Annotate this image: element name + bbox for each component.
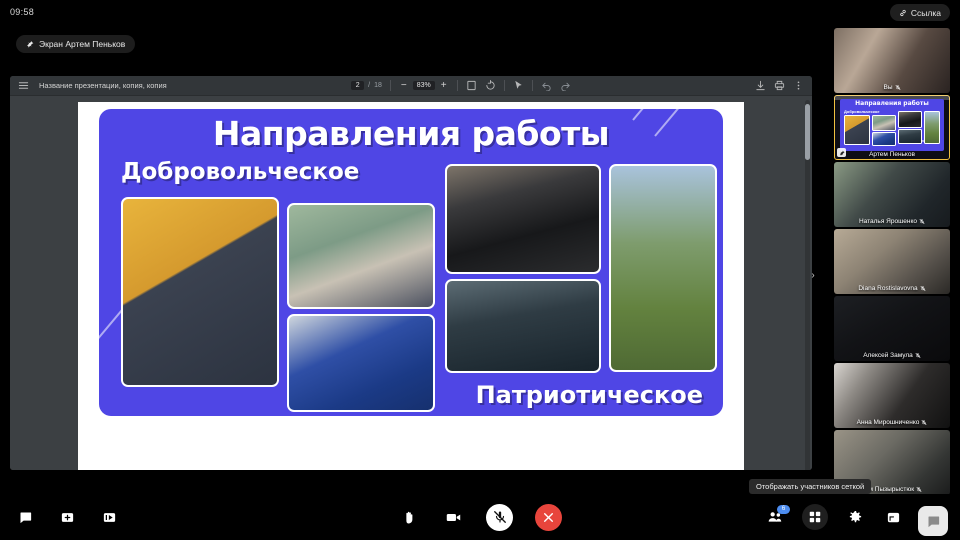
camera-icon xyxy=(445,509,462,526)
add-participant-icon xyxy=(60,510,75,525)
link-icon xyxy=(899,9,907,17)
participant-name-row: Наталья Ярошенко xyxy=(834,218,950,225)
chevron-right-icon[interactable]: › xyxy=(808,262,818,288)
viewer-scrollbar-thumb[interactable] xyxy=(805,104,810,160)
chat-floating-button[interactable] xyxy=(918,506,948,536)
grid-view-tooltip: Отображать участников сеткой xyxy=(749,479,871,494)
slide-page: Направления работы Добровольческое Патри… xyxy=(78,102,744,470)
slide-subtitle-volunteer: Добровольческое xyxy=(121,159,359,185)
microphone-muted-icon xyxy=(920,285,926,292)
bottom-left-controls xyxy=(14,506,120,528)
chat-bubble-icon xyxy=(926,514,941,529)
link-button-label: Ссылка xyxy=(911,8,941,18)
mini-slide-title: Направления работы xyxy=(840,100,944,107)
participant-name: Анна Мирошниченко xyxy=(857,419,920,426)
microphone-muted-icon xyxy=(916,486,922,493)
slide-title: Направления работы xyxy=(99,114,723,153)
participant-name-row: Вы xyxy=(834,84,950,91)
photo-computer-class xyxy=(445,164,601,274)
document-viewer-toolbar: Название презентации, копия, копия 2 / 1… xyxy=(10,76,812,96)
clock: 09:58 xyxy=(10,7,34,17)
participant-tile-active-screenshare[interactable]: Направления работы Добровольческое Патри… xyxy=(834,95,950,160)
pinned-screen-label: Экран Артем Пеньков xyxy=(39,39,125,49)
share-stage: Название презентации, копия, копия 2 / 1… xyxy=(0,26,822,494)
print-icon[interactable] xyxy=(774,80,785,91)
current-page-input[interactable]: 2 xyxy=(351,81,364,90)
participant-tile[interactable]: Diana Rostislavovna xyxy=(834,229,950,294)
page-indicator: 2 / 18 xyxy=(351,81,382,90)
bottom-right-controls: 6 xyxy=(764,504,942,530)
raise-hand-icon xyxy=(402,510,417,525)
participant-name: Наталья Ярошенко xyxy=(859,218,917,225)
document-title: Название презентации, копия, копия xyxy=(39,81,167,90)
microphone-muted-icon xyxy=(919,218,925,225)
participant-name: Артем Пеньков xyxy=(869,151,915,158)
participant-tile[interactable]: Вы xyxy=(834,28,950,93)
mini-slide-preview: Направления работы Добровольческое Патри… xyxy=(840,99,944,151)
mini-slide-subtitle-volunteer: Добровольческое xyxy=(844,109,879,114)
end-call-button[interactable] xyxy=(535,504,562,531)
zoom-controls: − 83% + xyxy=(399,81,449,91)
top-bar: 09:58 Ссылка xyxy=(0,0,960,26)
photo-blue-vest-volunteer xyxy=(287,314,435,412)
end-call-icon xyxy=(542,511,555,524)
share-screen-icon xyxy=(886,510,901,525)
total-pages: 18 xyxy=(374,82,382,89)
chat-button[interactable] xyxy=(14,506,36,528)
link-button[interactable]: Ссылка xyxy=(890,4,950,21)
download-icon[interactable] xyxy=(755,80,766,91)
settings-button[interactable] xyxy=(844,506,866,528)
photo-memorial-hill xyxy=(609,164,717,372)
document-canvas[interactable]: Направления работы Добровольческое Патри… xyxy=(10,96,812,470)
bottom-center-controls xyxy=(398,504,562,531)
participant-name: Алексей Замула xyxy=(863,352,913,359)
participant-tile[interactable]: Анна Мирошниченко xyxy=(834,363,950,428)
rotate-icon[interactable] xyxy=(485,80,496,91)
toolbar-divider xyxy=(457,80,458,91)
participant-name: Вы xyxy=(883,84,892,91)
share-screen-button[interactable] xyxy=(882,506,904,528)
shared-document-frame: Название презентации, копия, копия 2 / 1… xyxy=(10,76,812,470)
microphone-muted-icon xyxy=(921,419,927,426)
participants-button[interactable]: 6 xyxy=(764,506,786,528)
more-options-icon[interactable] xyxy=(793,80,804,91)
participant-name: Diana Rostislavovna xyxy=(858,285,917,292)
participants-filmstrip[interactable]: Вы Направления работы Добровольческое Па… xyxy=(822,26,960,494)
microphone-muted-icon xyxy=(895,84,901,91)
presentation-icon xyxy=(102,510,117,525)
participant-tile[interactable]: Алексей Замула xyxy=(834,296,950,361)
toolbar-divider xyxy=(390,80,391,91)
zoom-out-button[interactable]: − xyxy=(399,81,409,91)
grid-view-icon xyxy=(808,510,822,524)
toolbar-divider xyxy=(532,80,533,91)
page-separator: / xyxy=(368,82,370,89)
participant-name-row: Анна Мирошниченко xyxy=(834,419,950,426)
photo-volunteer-elderly xyxy=(121,197,279,387)
microphone-muted-icon xyxy=(915,352,921,359)
participants-count-badge: 6 xyxy=(777,505,790,514)
annotate-pointer-icon[interactable] xyxy=(513,80,524,91)
camera-button[interactable] xyxy=(442,506,464,528)
hamburger-menu-icon[interactable] xyxy=(18,80,29,91)
participant-name-row: Алексей Замула xyxy=(834,352,950,359)
presentation-button[interactable] xyxy=(98,506,120,528)
settings-gear-icon xyxy=(848,510,863,525)
chat-icon xyxy=(18,510,33,525)
pinned-screen-chip[interactable]: Экран Артем Пеньков xyxy=(16,35,135,53)
bottom-control-bar: 6 xyxy=(0,494,960,540)
zoom-in-button[interactable]: + xyxy=(439,81,449,91)
undo-icon[interactable] xyxy=(541,80,552,91)
presentation-slide: Направления работы Добровольческое Патри… xyxy=(99,109,723,416)
participant-name-row: Diana Rostislavovna xyxy=(834,285,950,292)
photo-shooting-range xyxy=(445,279,601,373)
photo-packing-aid xyxy=(287,203,435,309)
participant-name-row: Артем Пеньков xyxy=(834,151,950,158)
zoom-level[interactable]: 83% xyxy=(413,81,435,90)
add-participant-button[interactable] xyxy=(56,506,78,528)
participant-tile[interactable]: Наталья Ярошенко xyxy=(834,162,950,227)
pin-icon xyxy=(26,40,34,48)
redo-icon[interactable] xyxy=(560,80,571,91)
slide-subtitle-patriotic: Патриотическое xyxy=(476,381,703,409)
toolbar-divider xyxy=(504,80,505,91)
grid-view-button[interactable] xyxy=(802,504,828,530)
fit-to-page-icon[interactable] xyxy=(466,80,477,91)
raise-hand-button[interactable] xyxy=(398,506,420,528)
microphone-button[interactable] xyxy=(486,504,513,531)
microphone-muted-icon xyxy=(493,510,507,524)
